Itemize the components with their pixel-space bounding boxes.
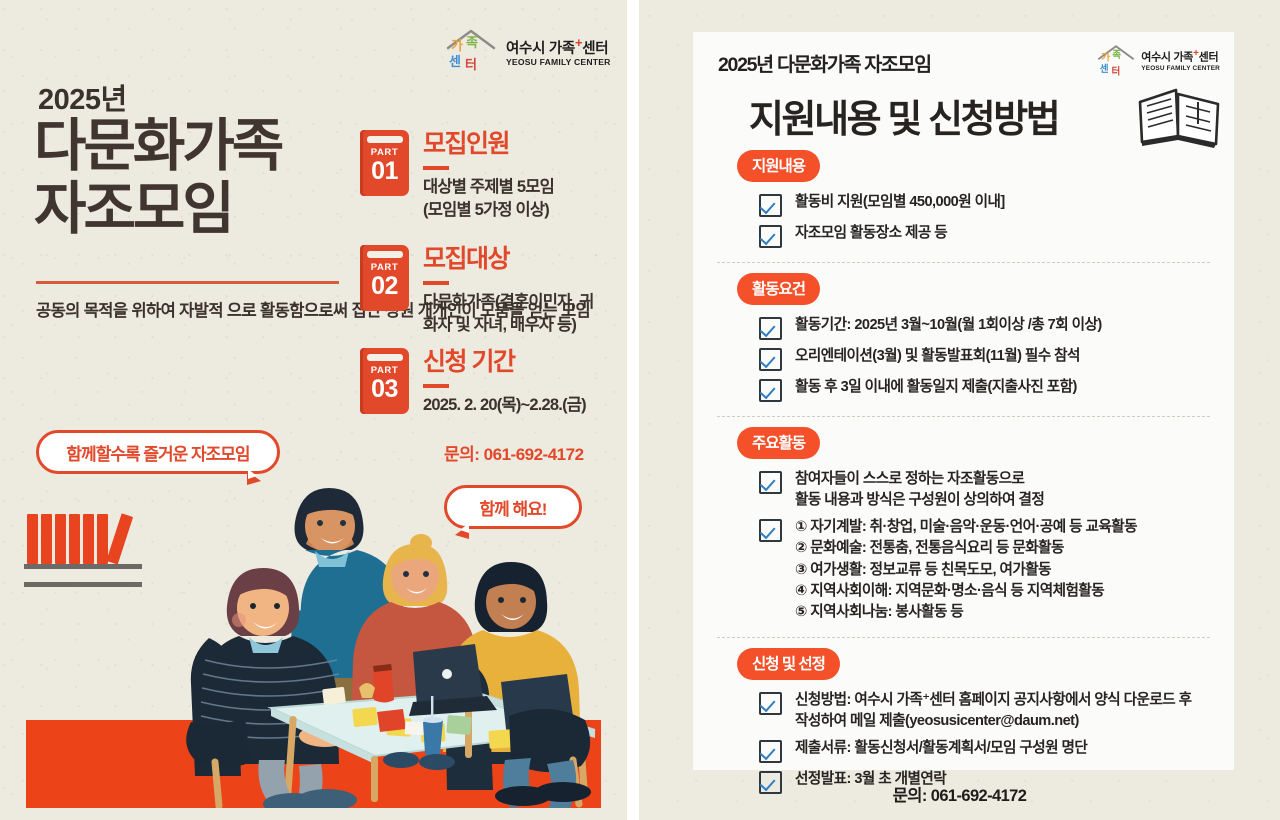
brand-name-kr: 여수시 가족+센터 [506, 36, 611, 56]
check-icon [759, 740, 782, 763]
svg-text:터: 터 [1112, 65, 1121, 77]
part-badge-number-01: 01 [360, 157, 409, 186]
open-book-icon [1134, 82, 1226, 148]
brand-wordmark: 여수시 가족+센터 YEOSU FAMILY CENTER [1141, 49, 1220, 72]
part-block-03: PART 03 신청 기간 2025. 2. 20(목)~2.28.(금) [360, 348, 627, 417]
svg-text:터: 터 [465, 57, 477, 72]
check-icon [759, 519, 782, 542]
title-line-1: 다문화가족 [34, 118, 374, 175]
check-icon [759, 692, 782, 715]
section-chip-requirements: 활동요건 [737, 273, 820, 305]
right-content-card: 2025년 다문화가족 자조모임 가 족 센 터 여수시 가족+센터 YE [693, 32, 1234, 770]
part-badge-book-icon-02: PART 02 [360, 245, 409, 311]
list-item: 활동 후 3일 이내에 활동일지 제출(지출사진 포함) [715, 374, 1212, 405]
part-heading-03: 신청 기간 [423, 349, 586, 377]
part-text-02: 다문화가족(결혼이민자, 귀 화자 및 자녀, 배우자 등) [423, 291, 593, 339]
svg-text:가: 가 [451, 38, 463, 53]
brand-logo-right: 가 족 센 터 여수시 가족+센터 YEOSU FAMILY CENTER [1096, 44, 1220, 78]
svg-text:센: 센 [1100, 63, 1109, 75]
part-badge-number-03: 03 [360, 375, 409, 404]
family-center-house-icon: 가 족 센 터 [444, 28, 498, 74]
check-icon [759, 471, 782, 494]
brand-wordmark: 여수시 가족+센터 YEOSU FAMILY CENTER [506, 36, 611, 67]
section-chip-activities: 주요활동 [737, 427, 820, 459]
list-item: 신청방법: 여수시 가족⁺센터 홈페이지 공지사항에서 양식 다운로드 후 작성… [715, 687, 1212, 735]
svg-text:족: 족 [466, 35, 478, 50]
brand-name-kr: 여수시 가족+센터 [1141, 49, 1220, 64]
title-divider [36, 281, 339, 284]
part-block-02: PART 02 모집대상 다문화가족(결혼이민자, 귀 화자 및 자녀, 배우자… [360, 245, 620, 338]
check-icon [759, 194, 782, 217]
contact-phone-right: 문의: 061-692-4172 [639, 782, 1280, 806]
section-chip-application: 신청 및 선정 [737, 648, 840, 680]
title-line-2: 자조모임 [34, 181, 374, 238]
section-divider [717, 262, 1210, 263]
part-text-03: 2025. 2. 20(목)~2.28.(금) [423, 394, 586, 418]
section-chip-support: 지원내용 [737, 150, 820, 182]
part-dash-02 [423, 281, 449, 285]
check-icon [759, 225, 782, 248]
left-poster-panel: 가 족 센 터 여수시 가족+센터 YEOSU FAMILY CENTER 20… [0, 0, 627, 820]
part-badge-number-02: 02 [360, 272, 409, 301]
poster-year: 2025년 [38, 76, 127, 118]
poster-root: 가 족 센 터 여수시 가족+센터 YEOSU FAMILY CENTER 20… [0, 0, 1280, 820]
part-dash-03 [423, 384, 449, 388]
right-header: 2025년 다문화가족 자조모임 가 족 센 터 여수시 가족+센터 YE [693, 32, 1234, 86]
part-badge-book-icon-01: PART 01 [360, 130, 409, 196]
check-icon [759, 348, 782, 371]
part-heading-01: 모집인원 [423, 131, 554, 159]
list-item: 자조모임 활동장소 제공 등 [715, 220, 1212, 251]
section-items-application: 신청방법: 여수시 가족⁺센터 홈페이지 공지사항에서 양식 다운로드 후 작성… [715, 687, 1212, 797]
brand-name-en: YEOSU FAMILY CENTER [506, 58, 611, 67]
svg-text:가: 가 [1101, 51, 1110, 63]
list-item: 참여자들이 스스로 정하는 자조활동으로 활동 내용과 방식은 구성원이 상의하… [715, 466, 1212, 514]
list-item: 활동비 지원(모임별 450,000원 이내] [715, 189, 1212, 220]
section-items-activities: 참여자들이 스스로 정하는 자조활동으로 활동 내용과 방식은 구성원이 상의하… [715, 466, 1212, 626]
list-item: 오리엔테이션(3월) 및 활동발표회(11월) 필수 참석 [715, 343, 1212, 374]
section-items-requirements: 활동기간: 2025년 3월~10월(월 1회이상 /총 7회 이상) 오리엔테… [715, 312, 1212, 405]
section-activity-requirements: 활동요건 활동기간: 2025년 3월~10월(월 1회이상 /총 7회 이상)… [693, 273, 1234, 405]
right-page-title: 지원내용 및 신청방법 [749, 88, 1058, 143]
part-heading-02: 모집대상 [423, 246, 593, 274]
part-block-01: PART 01 모집인원 대상별 주제별 5모임 (모임별 5가정 이상) [360, 130, 620, 223]
family-center-house-icon: 가 족 센 터 [1096, 44, 1136, 78]
poster-main-title: 다문화가족 자조모임 [34, 118, 374, 238]
section-divider [717, 637, 1210, 638]
brand-logo-left: 가 족 센 터 여수시 가족+센터 YEOSU FAMILY CENTER [444, 28, 611, 74]
svg-text:족: 족 [1113, 50, 1122, 61]
section-divider [717, 416, 1210, 417]
svg-text:센: 센 [449, 54, 461, 69]
section-support-details: 지원내용 활동비 지원(모임별 450,000원 이내] 자조모임 활동장소 제… [693, 150, 1234, 251]
part-dash-01 [423, 166, 449, 170]
people-meeting-illustration [175, 430, 615, 808]
part-badge-book-icon-03: PART 03 [360, 348, 409, 414]
bookshelf-illustration [24, 508, 174, 598]
section-items-support: 활동비 지원(모임별 450,000원 이내] 자조모임 활동장소 제공 등 [715, 189, 1212, 251]
check-icon [759, 379, 782, 402]
right-title-row: 지원내용 및 신청방법 [693, 86, 1234, 150]
section-main-activities: 주요활동 참여자들이 스스로 정하는 자조활동으로 활동 내용과 방식은 구성원… [693, 427, 1234, 626]
list-item: 활동기간: 2025년 3월~10월(월 1회이상 /총 7회 이상) [715, 312, 1212, 343]
panel-gutter [627, 0, 639, 820]
brand-name-en: YEOSU FAMILY CENTER [1141, 66, 1220, 72]
list-item: ① 자기계발: 취·창업, 미술·음악·운동·언어·공예 등 교육활동 ② 문화… [715, 514, 1212, 626]
section-application-selection: 신청 및 선정 신청방법: 여수시 가족⁺센터 홈페이지 공지사항에서 양식 다… [693, 648, 1234, 797]
right-poster-panel: 2025년 다문화가족 자조모임 가 족 센 터 여수시 가족+센터 YE [639, 0, 1280, 820]
check-icon [759, 317, 782, 340]
part-text-01: 대상별 주제별 5모임 (모임별 5가정 이상) [423, 176, 554, 224]
right-kicker-text: 2025년 다문화가족 자조모임 [718, 48, 931, 77]
list-item: 제출서류: 활동신청서/활동계획서/모임 구성원 명단 [715, 735, 1212, 766]
